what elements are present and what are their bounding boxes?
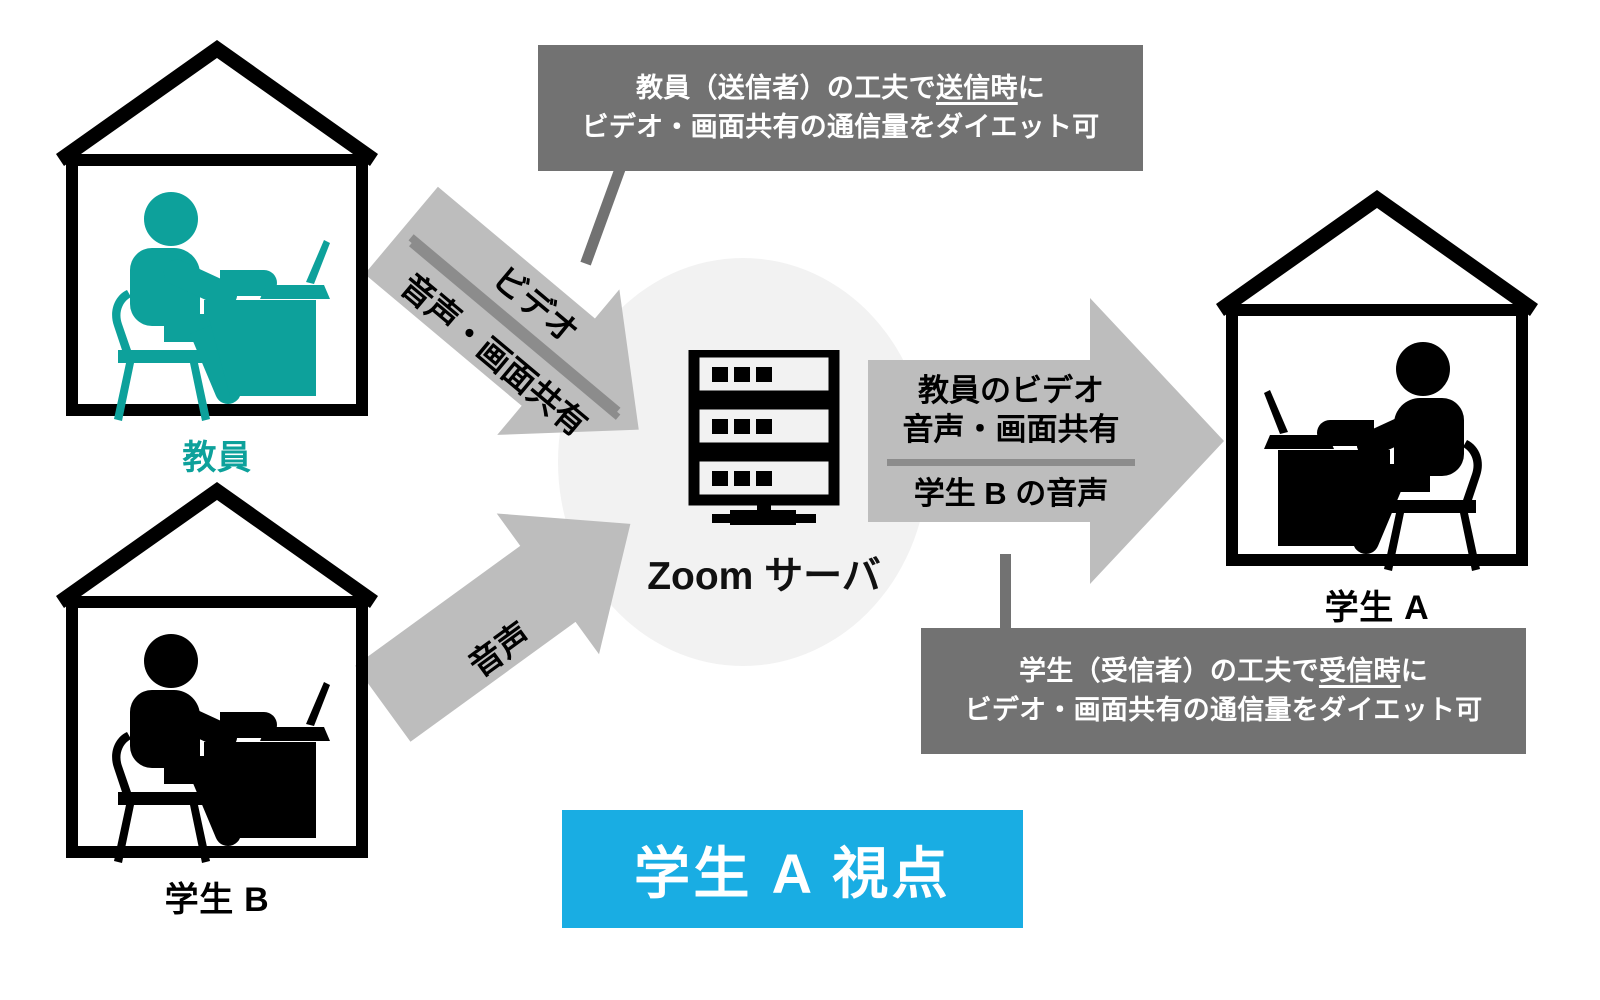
studentb-house: 学生 B [52,474,382,864]
teacher-house-label: 教員 [52,430,382,479]
arrow-label-teacher-audio-screenshare: 音声・画面共有 [903,411,1120,448]
arrow-label-studentb-audio: 学生 B の音声 [914,475,1109,512]
callout-receiver: 学生（受信者）の工夫で受信時に ビデオ・画面共有の通信量をダイエット可 [921,628,1526,754]
studenta-house-label: 学生 A [1212,580,1542,629]
viewpoint-banner-text: 学生 A 視点 [634,829,951,910]
callout-receiver-leader-line [1000,554,1011,630]
callout-sender-line-1: 教員（送信者）の工夫で送信時に [636,69,1045,108]
callout-sender: 教員（送信者）の工夫で送信時に ビデオ・画面共有の通信量をダイエット可 [538,45,1143,171]
studenta-house: 学生 A [1212,182,1542,572]
house-teacher-icon [52,32,382,422]
server-label: Zoom サーバ [598,545,930,601]
viewpoint-banner: 学生 A 視点 [562,810,1023,928]
house-studentb-icon [52,474,382,864]
teacher-house: 教員 [52,32,382,422]
callout-receiver-line1-underlined: 受信時 [1319,656,1401,686]
callout-receiver-line-2: ビデオ・画面共有の通信量をダイエット可 [965,691,1483,730]
person-at-laptop-icon [112,634,330,863]
arrow-server-to-studenta-labels: 教員のビデオ 音声・画面共有 学生 B の音声 [886,352,1136,532]
callout-sender-line1-underlined: 送信時 [936,73,1018,103]
callout-sender-line1-post: に [1018,73,1045,103]
server-rack-icon [686,350,842,540]
callout-receiver-line1-post: に [1401,656,1428,686]
studentb-house-label: 学生 B [52,872,382,921]
person-at-laptop-icon [112,192,330,421]
callout-sender-line1-pre: 教員（送信者）の工夫で [636,73,936,103]
person-at-laptop-mirrored-icon [1264,342,1482,571]
diagram-canvas: ビデオ 音声・画面共有 音声 教員のビデオ 音声・画面共有 学生 B の音声 [0,0,1600,1000]
callout-receiver-line-1: 学生（受信者）の工夫で受信時に [1019,652,1428,691]
callout-sender-line-2: ビデオ・画面共有の通信量をダイエット可 [582,108,1100,147]
arrow-label-teacher-video: 教員のビデオ [918,372,1104,409]
house-studenta-icon [1212,182,1542,572]
callout-receiver-line1-pre: 学生（受信者）の工夫で [1019,656,1319,686]
arrow-divider-rule-2 [887,459,1135,466]
